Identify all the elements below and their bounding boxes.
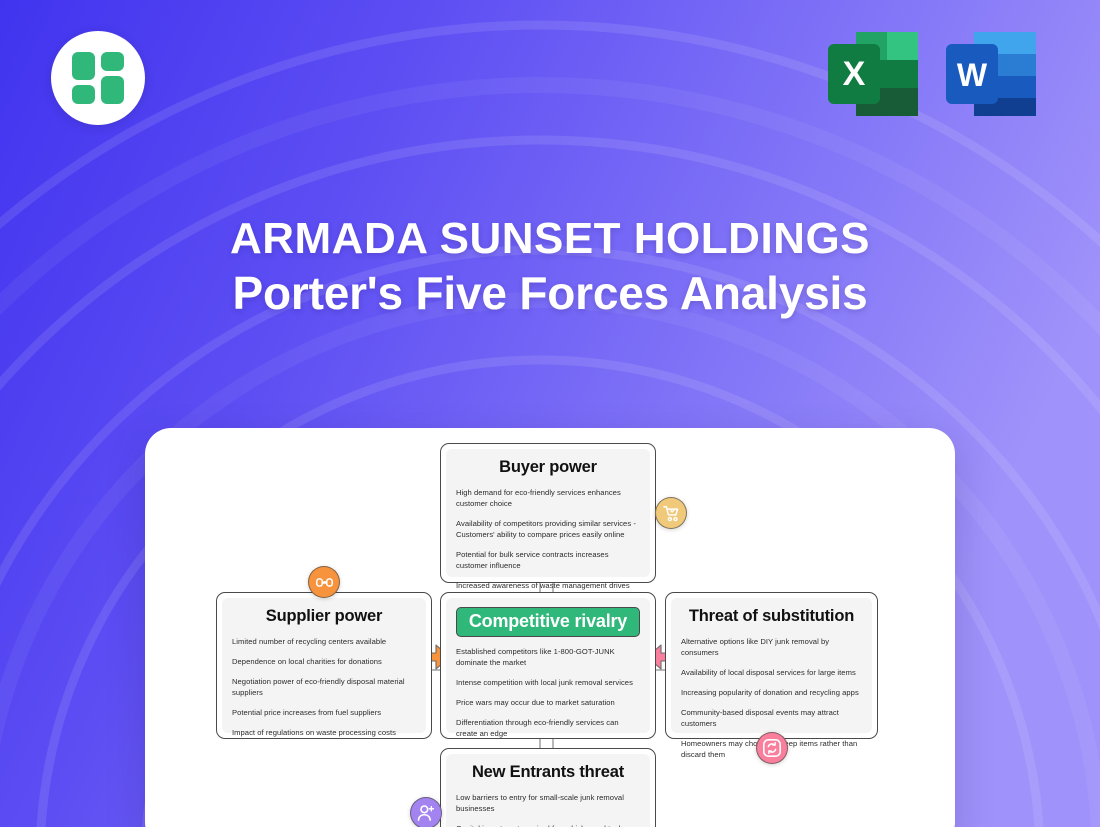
force-points-list: High demand for eco-friendly services en… [456,487,640,602]
list-item: Community-based disposal events may attr… [681,707,862,729]
list-item: Potential for bulk service contracts inc… [456,549,640,571]
force-box-new-entrants-threat[interactable]: New Entrants threat Low barriers to entr… [440,748,656,827]
force-box-competitive-rivalry[interactable]: Competitive rivalry Established competit… [440,592,656,739]
badge-new-entrants-threat[interactable] [410,797,442,827]
list-item: Price wars may occur due to market satur… [456,697,640,708]
list-item: Alternative options like DIY junk remova… [681,636,862,658]
list-item: Availability of local disposal services … [681,667,862,678]
force-points-list: Low barriers to entry for small-scale ju… [456,792,640,827]
badge-buyer-power[interactable] [655,497,687,529]
force-title: Competitive rivalry [456,607,640,637]
list-item: High demand for eco-friendly services en… [456,487,640,509]
list-item: Negotiation power of eco-friendly dispos… [232,676,416,698]
list-item: Capital investment required for vehicles… [456,823,640,827]
force-title: Buyer power [456,458,640,477]
link-chain-icon [315,573,334,592]
force-points-list: Limited number of recycling centers avai… [232,636,416,738]
refresh-sync-icon [762,738,782,758]
add-user-icon [416,803,436,823]
force-title: Supplier power [232,607,416,626]
force-box-threat-of-substitution[interactable]: Threat of substitution Alternative optio… [665,592,878,739]
list-item: Intense competition with local junk remo… [456,677,640,688]
list-item: Differentiation through eco-friendly ser… [456,717,640,739]
force-box-supplier-power[interactable]: Supplier power Limited number of recycli… [216,592,432,739]
list-item: Established competitors like 1-800-GOT-J… [456,646,640,668]
force-title: New Entrants threat [456,763,640,782]
badge-supplier-power[interactable] [308,566,340,598]
list-item: Potential price increases from fuel supp… [232,707,416,718]
list-item: Low barriers to entry for small-scale ju… [456,792,640,814]
list-item: Dependence on local charities for donati… [232,656,416,667]
list-item: Limited number of recycling centers avai… [232,636,416,647]
list-item: Increasing popularity of donation and re… [681,687,862,698]
force-title: Threat of substitution [681,607,862,626]
shopping-cart-icon [662,504,681,523]
list-item: Availability of competitors providing si… [456,518,640,540]
force-box-buyer-power[interactable]: Buyer power High demand for eco-friendly… [440,443,656,583]
list-item: Impact of regulations on waste processin… [232,727,416,738]
badge-threat-of-substitution[interactable] [756,732,788,764]
